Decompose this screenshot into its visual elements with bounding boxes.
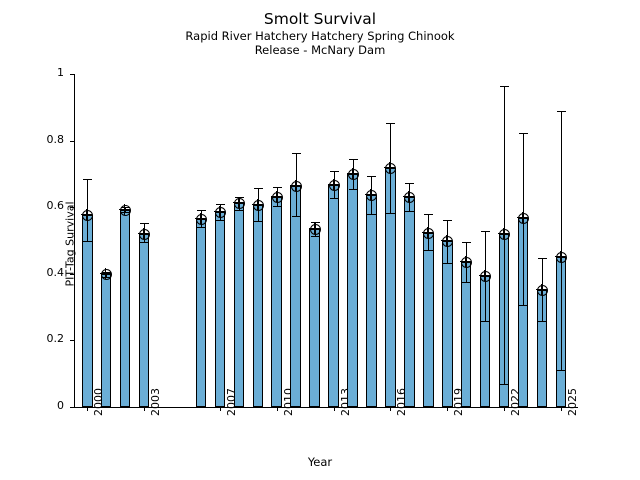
error-bar-line xyxy=(561,111,562,370)
bar xyxy=(328,185,339,407)
x-axis-label: Year xyxy=(0,455,640,469)
y-tick xyxy=(70,340,74,341)
y-tick-label: 0.2 xyxy=(24,332,64,345)
bar xyxy=(347,174,358,407)
error-bar-cap-lower xyxy=(500,384,509,385)
error-bar-cap-upper xyxy=(273,187,282,188)
data-point-marker xyxy=(480,271,491,282)
error-bar-cap-upper xyxy=(405,183,414,184)
error-bar-cap-lower xyxy=(349,189,358,190)
error-bar-cap-lower xyxy=(424,250,433,251)
error-bar-cap-lower xyxy=(292,216,301,217)
error-bar-cap-lower xyxy=(311,236,320,237)
error-bar-cap-upper xyxy=(140,223,149,224)
error-bar-cap-upper xyxy=(462,242,471,243)
bar xyxy=(404,197,415,407)
bar xyxy=(215,212,226,407)
y-tick xyxy=(70,74,74,75)
error-bar-cap-upper xyxy=(424,214,433,215)
error-bar-cap-lower xyxy=(519,305,528,306)
data-point-marker xyxy=(348,169,359,180)
y-tick-label: 0.4 xyxy=(24,266,64,279)
error-bar-cap-lower xyxy=(235,210,244,211)
data-point-marker xyxy=(556,252,567,263)
error-bar-cap-upper xyxy=(519,133,528,134)
bar xyxy=(253,205,264,407)
bar xyxy=(139,234,150,407)
error-bar-cap-upper xyxy=(443,220,452,221)
error-bar-cap-upper xyxy=(330,171,339,172)
error-bar-cap-upper xyxy=(538,258,547,259)
data-point-marker xyxy=(423,228,434,239)
error-bar-cap-upper xyxy=(311,222,320,223)
x-tick xyxy=(504,407,505,411)
data-point-marker xyxy=(120,205,131,216)
data-point-marker xyxy=(291,181,302,192)
x-tick xyxy=(334,407,335,411)
error-bar-cap-lower xyxy=(140,242,149,243)
bar xyxy=(290,186,301,407)
bar xyxy=(234,203,245,407)
x-tick xyxy=(561,407,562,411)
chart-subtitle-line2: Release - McNary Dam xyxy=(0,43,640,57)
x-tick xyxy=(144,407,145,411)
data-point-marker xyxy=(196,214,207,225)
y-tick xyxy=(70,407,74,408)
data-point-marker xyxy=(253,200,264,211)
error-bar-cap-upper xyxy=(481,231,490,232)
error-bar-cap-lower xyxy=(481,321,490,322)
data-point-marker xyxy=(215,207,226,218)
x-tick-label: 2025 xyxy=(566,388,579,416)
error-bar-cap-upper xyxy=(367,176,376,177)
x-tick-label: 2003 xyxy=(149,388,162,416)
error-bar-cap-lower xyxy=(557,370,566,371)
x-tick xyxy=(390,407,391,411)
plot-area: PIT-Tag Survival 00.20.40.60.81 20002003… xyxy=(74,74,578,407)
error-bar-cap-lower xyxy=(443,263,452,264)
y-tick-label: 1 xyxy=(24,66,64,79)
data-point-marker xyxy=(139,229,150,240)
chart-title: Smolt Survival xyxy=(0,10,640,29)
error-bar-cap-upper xyxy=(557,111,566,112)
error-bar-cap-lower xyxy=(462,282,471,283)
y-tick xyxy=(70,207,74,208)
data-point-marker xyxy=(234,198,245,209)
bar xyxy=(461,262,472,407)
bar xyxy=(423,233,434,407)
bar xyxy=(101,274,112,407)
bar xyxy=(196,219,207,407)
bar xyxy=(271,197,282,407)
x-tick xyxy=(447,407,448,411)
chart-subtitle-line1: Rapid River Hatchery Hatchery Spring Chi… xyxy=(0,29,640,43)
error-bar-cap-upper xyxy=(216,204,225,205)
y-axis-label: PIT-Tag Survival xyxy=(64,184,77,304)
bar xyxy=(442,241,453,407)
bar xyxy=(82,215,93,407)
error-bar-cap-lower xyxy=(254,221,263,222)
y-tick-label: 0 xyxy=(24,399,64,412)
data-point-marker xyxy=(310,224,321,235)
bar xyxy=(120,210,131,407)
error-bar-cap-lower xyxy=(273,206,282,207)
error-bar-cap-upper xyxy=(500,86,509,87)
error-bar-cap-upper xyxy=(292,153,301,154)
error-bar-cap-lower xyxy=(367,214,376,215)
error-bar-cap-lower xyxy=(216,220,225,221)
y-tick-label: 0.8 xyxy=(24,133,64,146)
x-tick xyxy=(220,407,221,411)
error-bar-cap-lower xyxy=(197,227,206,228)
y-tick xyxy=(70,274,74,275)
y-tick xyxy=(70,141,74,142)
error-bar-cap-upper xyxy=(386,123,395,124)
chart-title-block: Smolt Survival Rapid River Hatchery Hatc… xyxy=(0,10,640,57)
error-bar-cap-lower xyxy=(83,241,92,242)
error-bar-cap-upper xyxy=(197,210,206,211)
data-point-marker xyxy=(272,192,283,203)
bar xyxy=(309,229,320,407)
error-bar-cap-upper xyxy=(349,159,358,160)
error-bar-cap-lower xyxy=(330,198,339,199)
x-tick xyxy=(277,407,278,411)
smolt-survival-chart-figure: Smolt Survival Rapid River Hatchery Hatc… xyxy=(0,0,640,480)
error-bar-cap-lower xyxy=(405,211,414,212)
error-bar-cap-lower xyxy=(538,321,547,322)
data-point-marker xyxy=(329,180,340,191)
error-bar-cap-upper xyxy=(254,188,263,189)
data-point-marker xyxy=(537,285,548,296)
y-tick-label: 0.6 xyxy=(24,199,64,212)
error-bar-cap-lower xyxy=(386,213,395,214)
bar xyxy=(366,195,377,407)
x-tick xyxy=(87,407,88,411)
error-bar-cap-upper xyxy=(83,179,92,180)
